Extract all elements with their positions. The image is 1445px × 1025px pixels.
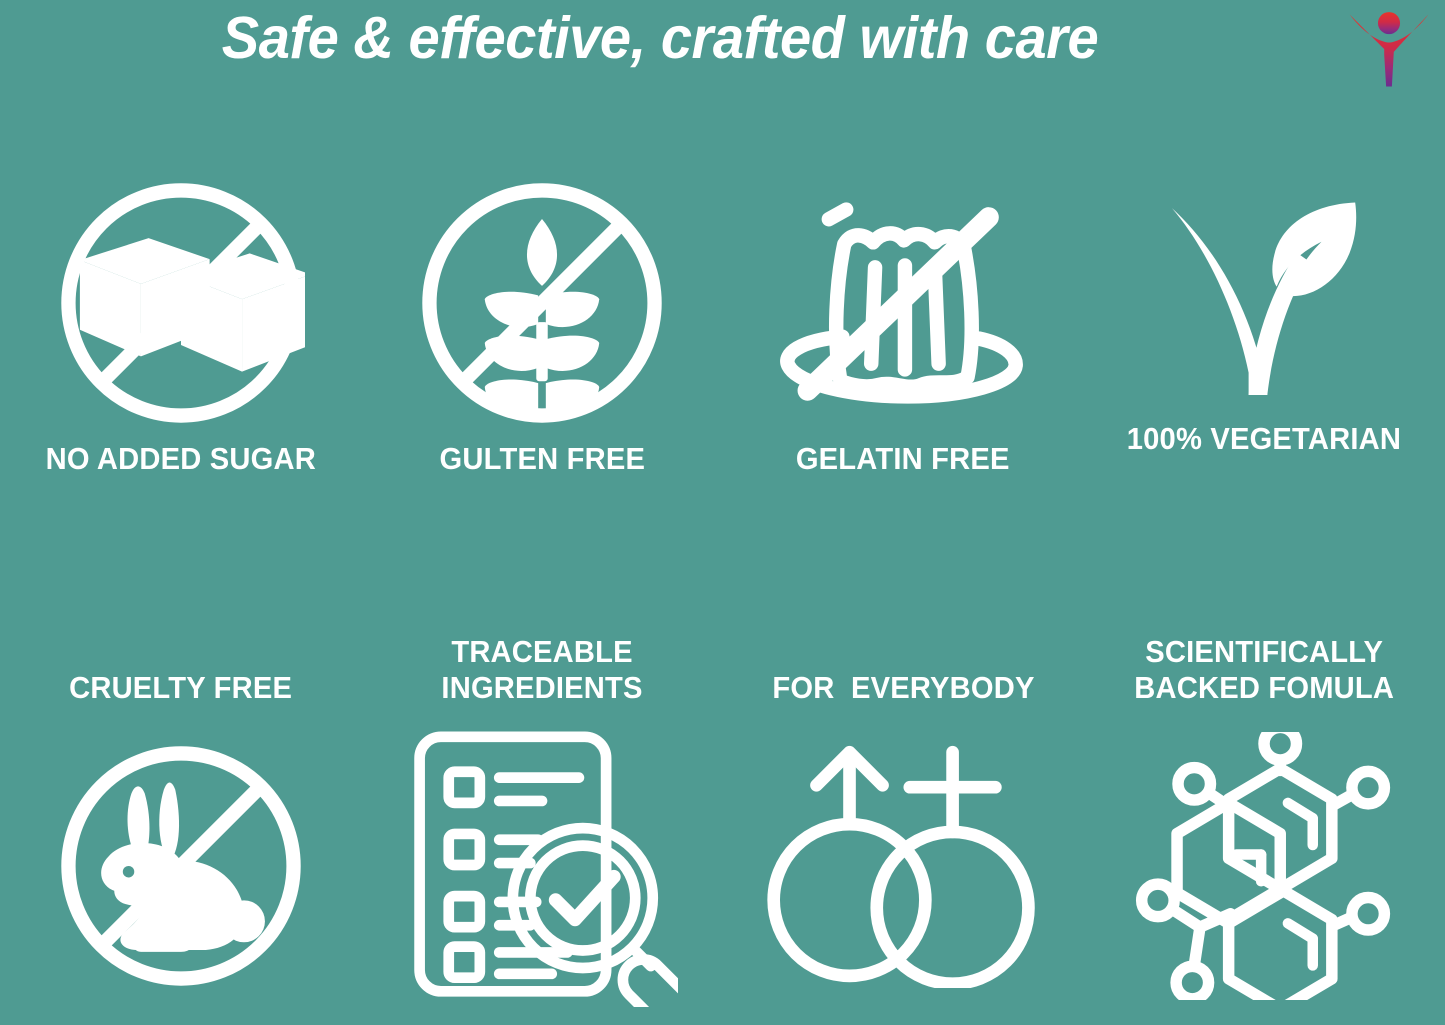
poster-header: Safe & effective, crafted with care [0, 0, 1445, 105]
badge-label-slot: TRACEABLE INGREDIENTS [435, 595, 649, 707]
vegetarian-leaf-icon [1157, 180, 1372, 425]
badge-label-slot: CRUELTY FREE [62, 595, 299, 707]
badge-label: NO ADDED SUGAR [45, 441, 315, 478]
badge-grid: NO ADDED SUGAR [0, 105, 1445, 1025]
badge-label: 100% VEGETARIAN [1127, 421, 1401, 458]
badge-label-slot: FOR EVERYBODY [764, 595, 1043, 707]
traceable-ingredients-icon [406, 721, 678, 1011]
badge-label: CRUELTY FREE [69, 670, 292, 707]
infographic-poster: Safe & effective, crafted with care [0, 0, 1445, 1025]
badge-row-bottom: CRUELTY FREE [0, 595, 1445, 1025]
badge-label: SCIENTIFICALLY BACKED FOMULA [1134, 634, 1394, 707]
badge-cruelty-free: CRUELTY FREE [0, 595, 361, 1025]
badge-row-top: NO ADDED SUGAR [0, 180, 1445, 500]
molecule-icon [1135, 721, 1393, 1011]
badge-gelatin-free: GELATIN FREE [723, 180, 1084, 500]
badge-label-slot: SCIENTIFICALLY BACKED FOMULA [1126, 595, 1402, 707]
badge-label: FOR EVERYBODY [772, 670, 1034, 707]
badge-no-added-sugar: NO ADDED SUGAR [0, 180, 361, 500]
badge-scientifically-backed: SCIENTIFICALLY BACKED FOMULA [1084, 595, 1445, 1025]
badge-label: GELATIN FREE [796, 441, 1010, 478]
cruelty-free-rabbit-icon [57, 721, 305, 1011]
person-raising-arms-logo [1341, 2, 1437, 98]
badge-label: GULTEN FREE [439, 441, 645, 478]
badge-label: TRACEABLE INGREDIENTS [441, 634, 642, 707]
gender-symbols-icon [762, 721, 1044, 1011]
badge-traceable-ingredients: TRACEABLE INGREDIENTS [361, 595, 722, 1025]
page-title: Safe & effective, crafted with care [33, 8, 1287, 70]
gluten-free-icon [418, 180, 666, 425]
gelatin-free-icon [773, 180, 1033, 425]
badge-gluten-free: GULTEN FREE [361, 180, 722, 500]
no-added-sugar-icon [57, 180, 305, 425]
badge-vegetarian: 100% VEGETARIAN [1084, 180, 1445, 500]
badge-for-everybody: FOR EVERYBODY [723, 595, 1084, 1025]
